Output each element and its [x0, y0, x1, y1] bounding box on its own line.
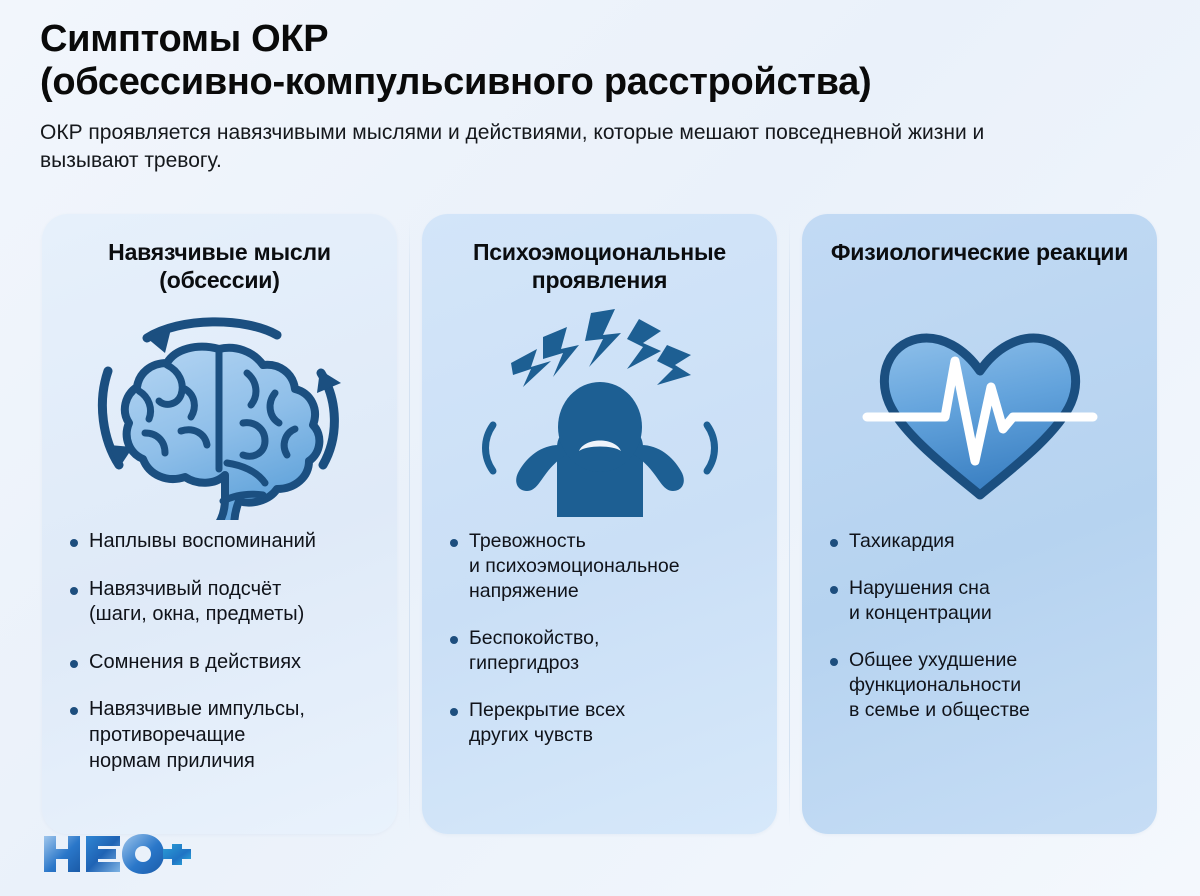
list-item: Перекрытие всех других чувств — [450, 698, 759, 748]
bullet-text: Сомнения в действиях — [89, 650, 301, 676]
bullet-list: Наплывы воспоминаний Навязчивый подсчёт … — [60, 529, 379, 774]
bullet-dot — [450, 539, 458, 547]
list-item: Беспокойство, гипергидроз — [450, 626, 759, 676]
bullet-dot — [830, 539, 838, 547]
header: Симптомы ОКР (обсессивно-компульсивного … — [40, 18, 1170, 175]
list-item: Общее ухудшение функциональности в семье… — [830, 648, 1139, 723]
card-title: Навязчивые мысли (обсессии) — [60, 238, 379, 298]
bullet-text: Навязчивый подсчёт (шаги, окна, предметы… — [89, 577, 304, 628]
page-title: Симптомы ОКР (обсессивно-компульсивного … — [40, 18, 1170, 103]
list-item: Сомнения в действиях — [70, 650, 379, 676]
page-title-line2: (обсессивно-компульсивного расстройства) — [40, 61, 1170, 104]
list-item: Навязчивый подсчёт (шаги, окна, предметы… — [70, 577, 379, 628]
brain-cycle-icon — [60, 300, 379, 525]
list-item: Тревожность и психоэмоциональное напряже… — [450, 529, 759, 604]
bullet-dot — [70, 539, 78, 547]
bullet-text: Тахикардия — [849, 529, 955, 554]
card-title: Физиологические реакции — [820, 238, 1139, 298]
card-psychoemotional: Психоэмоциональные проявления — [422, 214, 777, 834]
bullet-text: Тревожность и психоэмоциональное напряже… — [469, 529, 680, 604]
bullet-text: Навязчивые импульсы, противоречащие норм… — [89, 697, 305, 774]
bullet-dot — [70, 707, 78, 715]
page-title-line1: Симптомы ОКР — [40, 18, 328, 60]
bullet-dot — [830, 658, 838, 666]
card-title: Психоэмоциональные проявления — [440, 238, 759, 298]
bullet-text: Беспокойство, гипергидроз — [469, 626, 599, 676]
bullet-list: Тахикардия Нарушения сна и концентрации … — [820, 529, 1139, 723]
card-physiological: Физиологические реакции Тахи — [802, 214, 1157, 834]
bullet-text: Нарушения сна и концентрации — [849, 576, 992, 626]
card-divider-2 — [789, 220, 790, 828]
bullet-text: Наплывы воспоминаний — [89, 529, 316, 555]
list-item: Наплывы воспоминаний — [70, 529, 379, 555]
page-subtitle: ОКР проявляется навязчивыми мыслями и де… — [40, 119, 1080, 175]
list-item: Навязчивые импульсы, противоречащие норм… — [70, 697, 379, 774]
neo-plus-logo — [42, 830, 192, 876]
bullet-text: Перекрытие всех других чувств — [469, 698, 625, 748]
heart-pulse-icon — [820, 300, 1139, 525]
stressed-person-icon — [440, 300, 759, 525]
symptom-cards-row: Навязчивые мысли (обсессии) — [42, 214, 1157, 834]
card-obsessive-thoughts: Навязчивые мысли (обсессии) — [42, 214, 397, 834]
bullet-dot — [450, 636, 458, 644]
bullet-list: Тревожность и психоэмоциональное напряже… — [440, 529, 759, 748]
bullet-dot — [450, 708, 458, 716]
bullet-dot — [830, 586, 838, 594]
list-item: Нарушения сна и концентрации — [830, 576, 1139, 626]
bullet-text: Общее ухудшение функциональности в семье… — [849, 648, 1030, 723]
card-divider-1 — [409, 220, 410, 828]
bullet-dot — [70, 587, 78, 595]
bullet-dot — [70, 660, 78, 668]
list-item: Тахикардия — [830, 529, 1139, 554]
